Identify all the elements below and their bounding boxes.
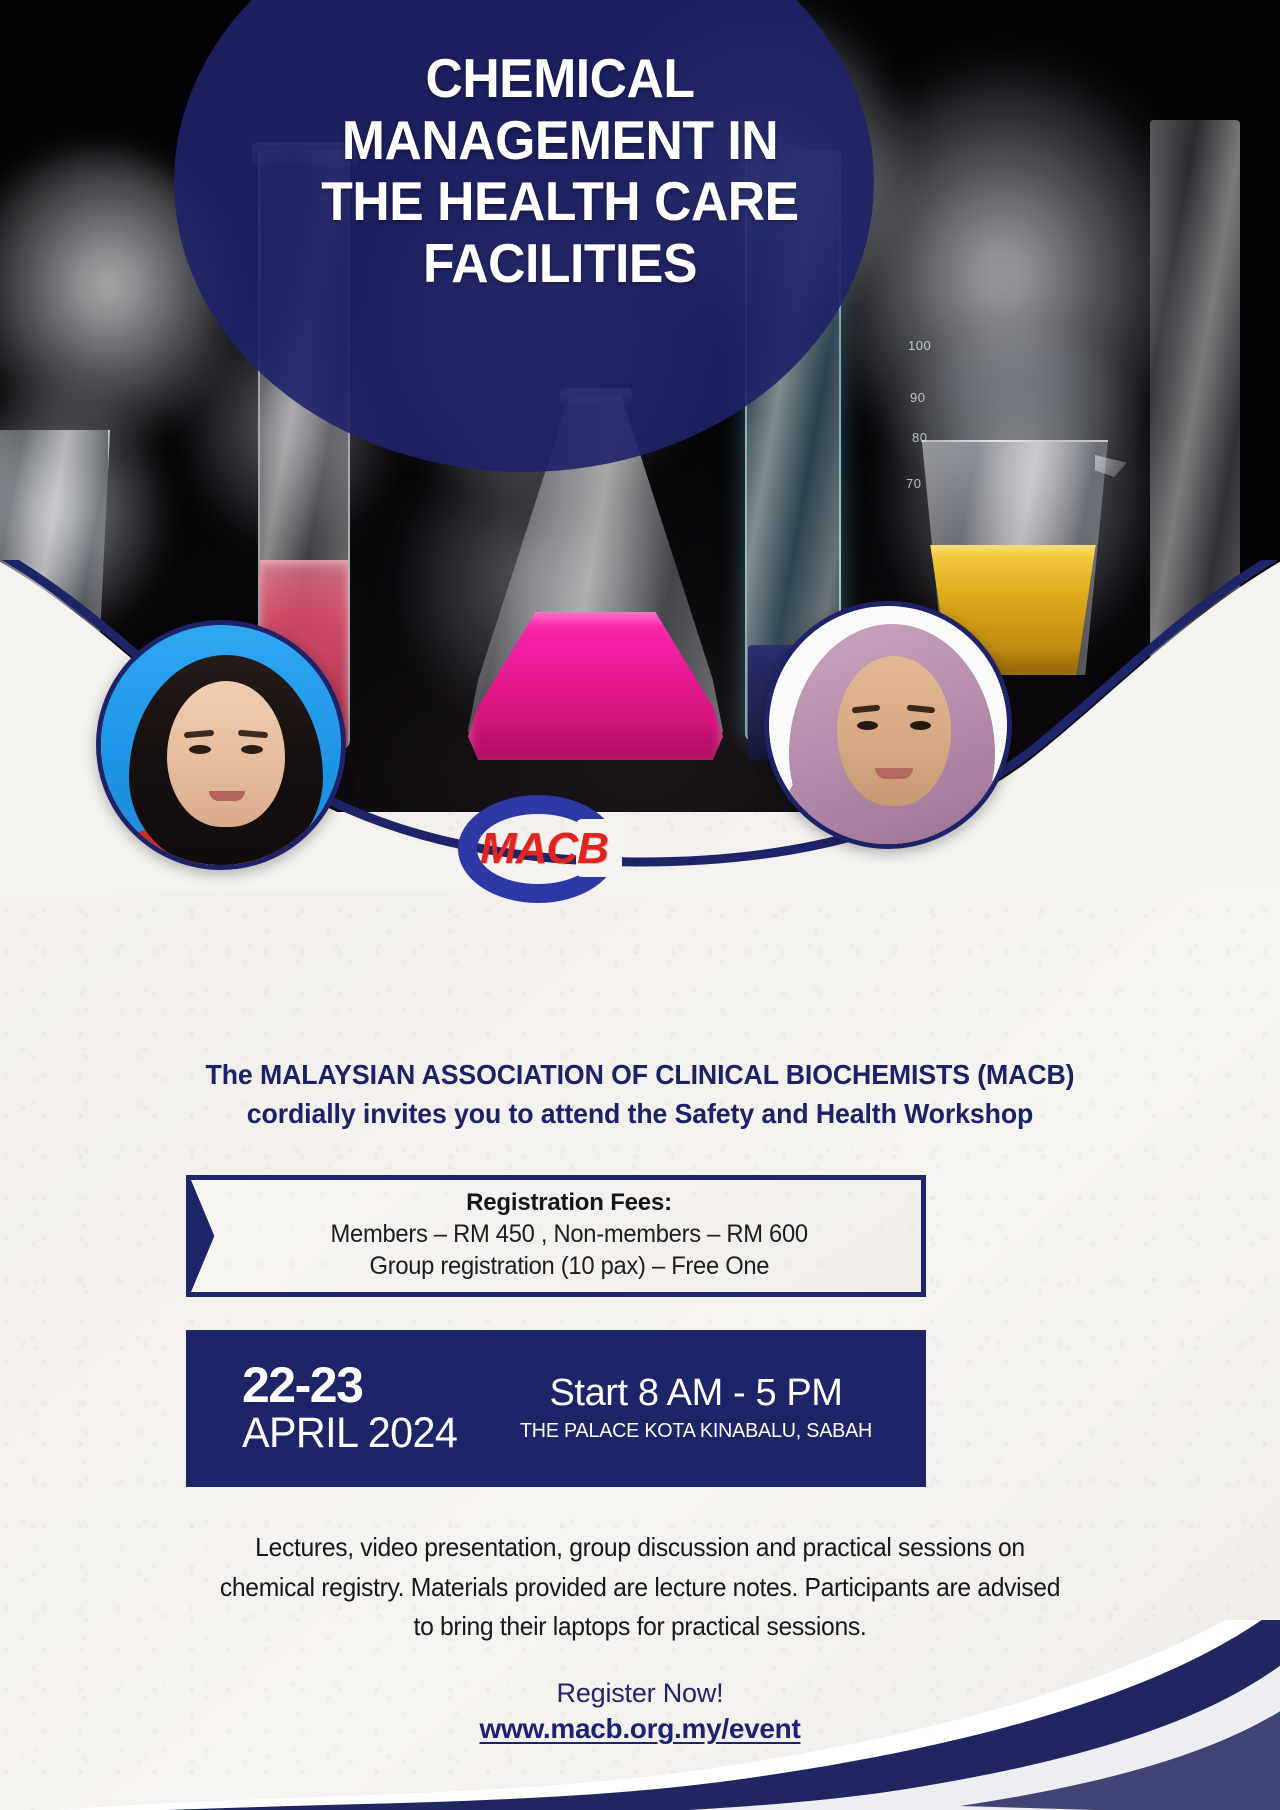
event-details-banner: 22-23 APRIL 2024 Start 8 AM - 5 PM THE P…	[186, 1330, 926, 1487]
event-month-year: APRIL 2024	[242, 1411, 476, 1456]
invitation-text: The MALAYSIAN ASSOCIATION OF CLINICAL BI…	[97, 1055, 1183, 1133]
title-line-3: THE HEALTH CARE	[259, 171, 861, 233]
event-poster: 100 90 80 70 CHEMICAL MANAGEMENT IN THE …	[0, 0, 1280, 1810]
event-time-venue-block: Start 8 AM - 5 PM THE PALACE KOTA KINABA…	[486, 1371, 926, 1445]
register-now-prompt: Register Now!	[0, 1677, 1280, 1709]
event-description: Lectures, video presentation, group disc…	[132, 1528, 1149, 1647]
event-days: 22-23	[242, 1360, 486, 1411]
page-title: CHEMICAL MANAGEMENT IN THE HEALTH CARE F…	[259, 48, 861, 294]
description-line-1: Lectures, video presentation, group disc…	[132, 1528, 1149, 1568]
macb-logo: MACB	[458, 795, 618, 905]
registration-fees-line-1: Members – RM 450 , Non-members – RM 600	[330, 1218, 807, 1251]
event-time: Start 8 AM - 5 PM	[486, 1371, 906, 1417]
portrait-face	[167, 681, 285, 827]
registration-fees-line-2: Group registration (10 pax) – Free One	[369, 1250, 769, 1283]
beaker-left-edge-icon	[0, 430, 110, 660]
tube-tick-100: 100	[908, 338, 931, 353]
description-line-3: to bring their laptops for practical ses…	[132, 1607, 1149, 1647]
macb-logo-text: MACB	[480, 825, 650, 873]
portrait-eye	[910, 721, 931, 730]
title-line-4: FACILITIES	[259, 233, 861, 295]
tube-tick-70: 70	[906, 476, 921, 491]
speaker-portrait-right	[764, 601, 1012, 849]
registration-fees-title: Registration Fees:	[466, 1189, 672, 1218]
portrait-mouth	[209, 791, 245, 801]
tube-tick-90: 90	[910, 390, 925, 405]
registration-fees-inner: Registration Fees: Members – RM 450 , No…	[191, 1180, 921, 1292]
event-date-block: 22-23 APRIL 2024	[186, 1360, 486, 1456]
invitation-line-2: cordially invites you to attend the Safe…	[97, 1094, 1183, 1133]
portrait-eye	[189, 745, 211, 754]
portrait-mouth	[875, 768, 913, 779]
far-right-tube-icon	[1150, 120, 1240, 680]
portrait-eye	[241, 745, 263, 754]
registration-fees-box: Registration Fees: Members – RM 450 , No…	[186, 1175, 926, 1297]
title-line-2: MANAGEMENT IN	[259, 110, 861, 172]
portrait-eye	[857, 721, 878, 730]
invitation-line-1: The MALAYSIAN ASSOCIATION OF CLINICAL BI…	[97, 1055, 1183, 1094]
description-line-2: chemical registry. Materials provided ar…	[132, 1568, 1149, 1608]
registration-url-link[interactable]: www.macb.org.my/event	[0, 1712, 1280, 1746]
portrait-face	[837, 656, 951, 806]
event-venue: THE PALACE KOTA KINABALU, SABAH	[494, 1417, 897, 1446]
title-line-1: CHEMICAL	[259, 48, 861, 110]
speaker-portrait-left	[96, 620, 346, 870]
